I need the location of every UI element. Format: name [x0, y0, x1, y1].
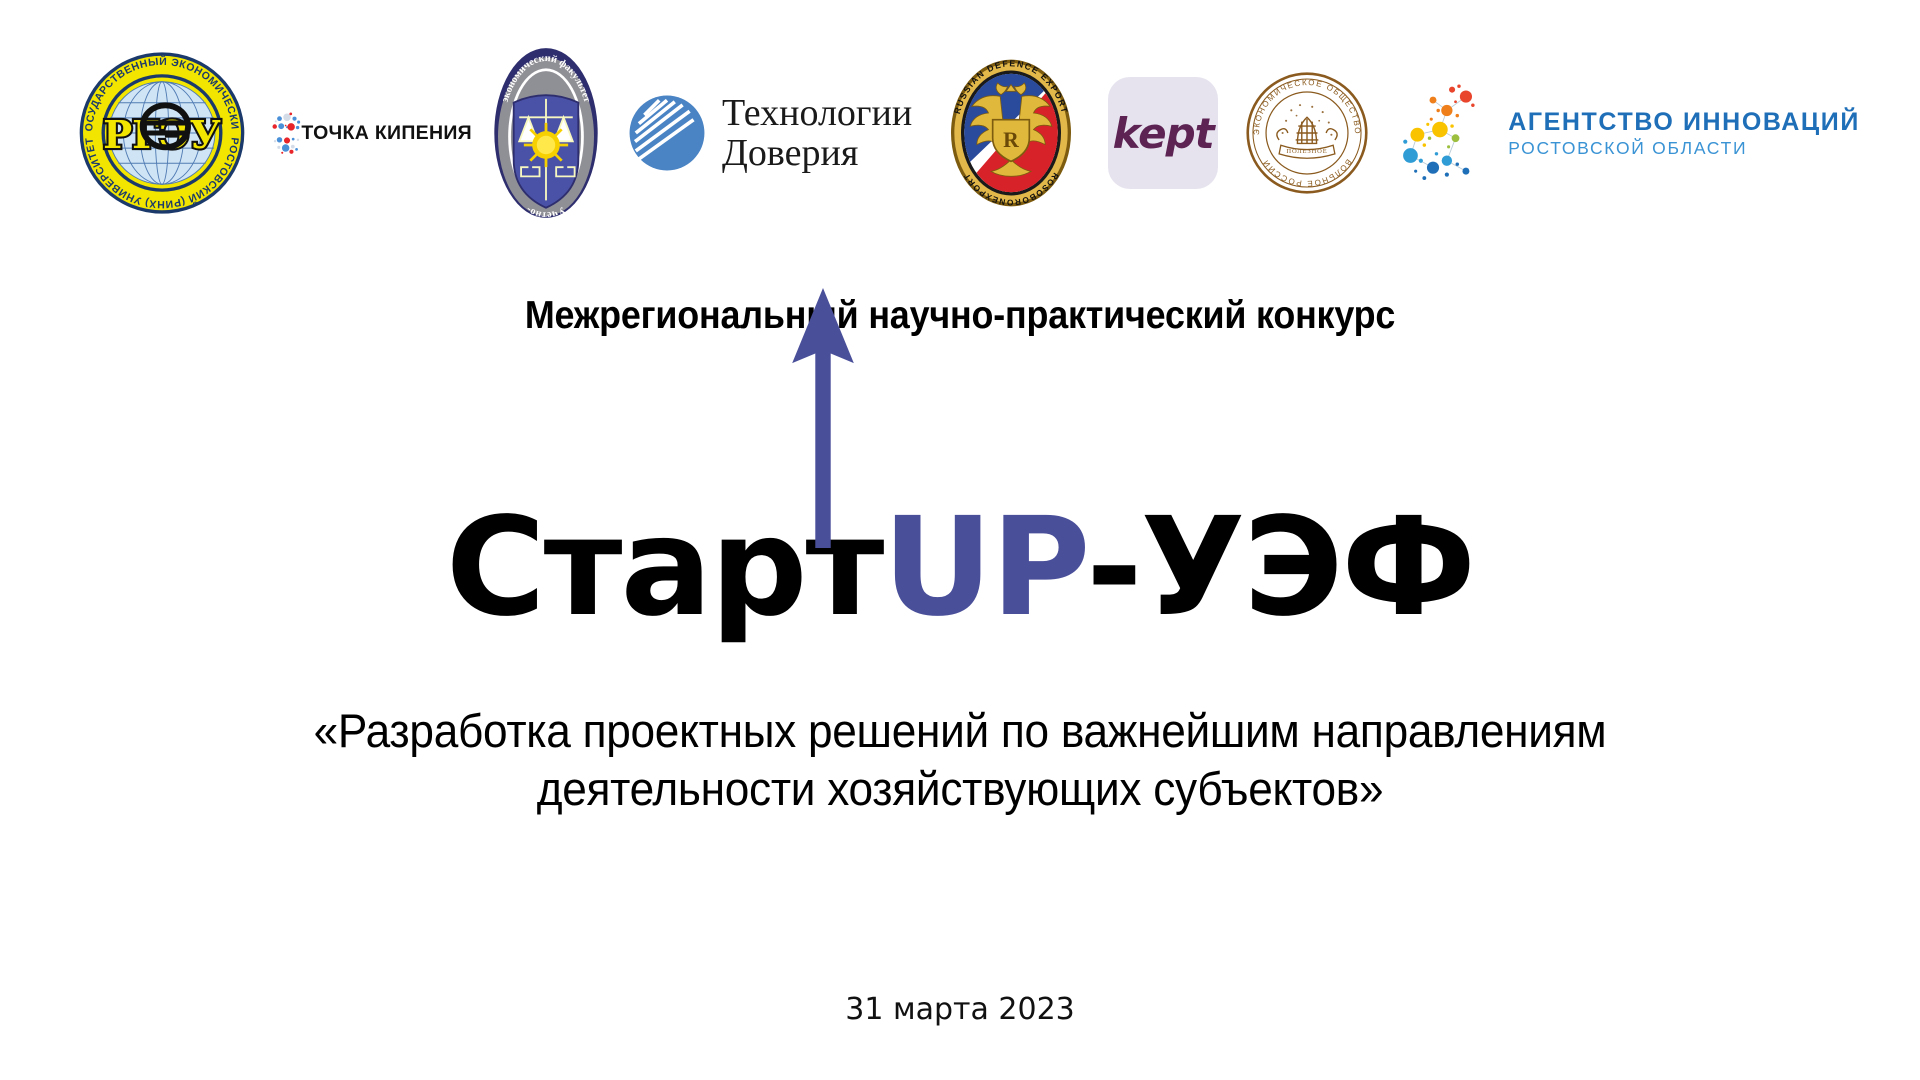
logo-tekhnologii-doveriya: Технологии Доверия — [628, 48, 912, 218]
logo-tochka-kipeniya: ТОЧКА КИПЕНИЯ — [272, 63, 472, 203]
uef-seal-logo: экономический факультет Учетно- — [486, 45, 606, 221]
event-subtitle: «Разработка проектных решений по важнейш… — [58, 702, 1863, 819]
veo-ribbon-label: ПОЛЕЗНОЕ — [1287, 148, 1328, 155]
wordmark-part-start: Старт — [446, 489, 883, 647]
td-line-1: Технологии — [722, 93, 912, 133]
aro-line-1: АГЕНТСТВО ИННОВАЦИЙ — [1508, 109, 1860, 136]
logo-volnoe-ekonomicheskoe-obshchestvo: ПОЛЕЗНОЕ ЭКОНОМИЧЕСКОЕ ОБЩЕСТВО ВОЛЬНОЕ … — [1218, 48, 1368, 218]
logo-uchetno-ekonomicheskiy-fakultet: экономический факультет Учетно- — [472, 48, 606, 218]
partner-logo-strip: ГОСУДАРСТВЕННЫЙ ЭКОНОМИЧЕСКИЙ РОСТОВСКИЙ… — [0, 48, 1920, 218]
svg-text:РГЭУ: РГЭУ — [103, 113, 221, 158]
rosoboronexport-shield-letter: R — [1003, 128, 1019, 152]
logo-agentstvo-innovaciy: АГЕНТСТВО ИННОВАЦИЙ РОСТОВСКОЙ ОБЛАСТИ — [1398, 48, 1860, 218]
veo-seal-logo: ПОЛЕЗНОЕ ЭКОНОМИЧЕСКОЕ ОБЩЕСТВО ВОЛЬНОЕ … — [1246, 72, 1368, 194]
tekhnologii-doveriya-label: Технологии Доверия — [722, 93, 912, 174]
rosoboronexport-logo: R RUSSIAN DEFENCE EXPORT ROSOBORONEXPORT — [948, 58, 1074, 208]
rgeu-rinh-logo: ГОСУДАРСТВЕННЫЙ ЭКОНОМИЧЕСКИЙ РОСТОВСКИЙ… — [78, 49, 246, 217]
tochka-kipeniya-dots-icon — [272, 69, 301, 197]
subtitle-line-1: «Разработка проектных решений по важнейш… — [58, 702, 1863, 760]
event-kicker: Межрегиональный научно-практический конк… — [77, 294, 1843, 338]
event-date: 31 марта 2023 — [0, 992, 1920, 1027]
tochka-kipeniya-label: ТОЧКА КИПЕНИЯ — [301, 122, 472, 145]
logo-rgeu-rinh: ГОСУДАРСТВЕННЫЙ ЭКОНОМИЧЕСКИЙ РОСТОВСКИЙ… — [78, 48, 246, 218]
kept-logo-tile: kept — [1108, 77, 1218, 189]
td-line-2: Доверия — [722, 133, 912, 173]
tekhnologii-doveriya-mark-icon — [628, 94, 706, 172]
event-wordmark: СтартUP-УЭФ — [0, 500, 1920, 636]
subtitle-line-2: деятельности хозяйствующих субъектов» — [58, 760, 1863, 818]
aro-line-2: РОСТОВСКОЙ ОБЛАСТИ — [1508, 139, 1860, 158]
agentstvo-innovaciy-label: АГЕНТСТВО ИННОВАЦИЙ РОСТОВСКОЙ ОБЛАСТИ — [1508, 109, 1860, 158]
wordmark-part-up: UP — [882, 489, 1086, 647]
logo-rosoboronexport: R RUSSIAN DEFENCE EXPORT ROSOBORONEXPORT — [912, 48, 1074, 218]
agentstvo-innovaciy-network-icon — [1398, 81, 1494, 185]
wordmark-inner: СтартUP-УЭФ — [446, 500, 1474, 636]
kept-label: kept — [1113, 109, 1214, 158]
logo-kept: kept — [1074, 48, 1218, 218]
wordmark-part-uef: -УЭФ — [1086, 489, 1474, 647]
